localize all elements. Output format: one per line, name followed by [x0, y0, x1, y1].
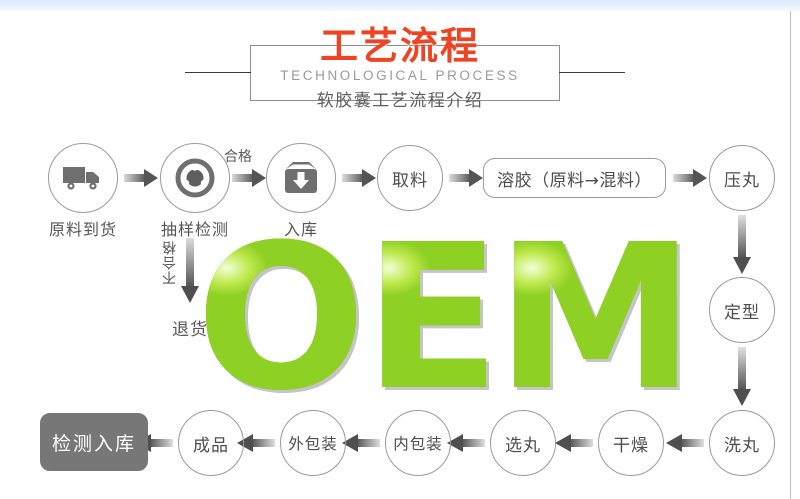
node-label-outer-packaging: 外包装 — [288, 432, 338, 454]
truck-icon — [62, 164, 104, 192]
node-label-pill-selection: 选丸 — [505, 431, 541, 456]
node-sampling-inspection[interactable] — [160, 143, 230, 213]
arrow-left-4 — [342, 433, 380, 453]
subtitle-english: TECHNOLOGICAL PROCESS — [0, 68, 800, 83]
node-label-pill-pressing: 压丸 — [724, 166, 760, 191]
node-pill-pressing[interactable]: 压丸 — [709, 145, 775, 211]
process-flow-infographic: 工艺流程 TECHNOLOGICAL PROCESS 软胶囊工艺流程介绍 O E… — [0, 0, 800, 499]
arrow-down-2 — [732, 347, 752, 407]
inspection-gear-icon — [174, 157, 216, 199]
arrow-left-1 — [666, 433, 704, 453]
node-inner-packaging[interactable]: 内包装 — [385, 410, 451, 476]
arrow-left-3 — [447, 433, 485, 453]
node-pill-washing[interactable]: 洗丸 — [709, 410, 775, 476]
edge-label-fail: 不合格 — [160, 240, 180, 285]
subtitle-chinese: 软胶囊工艺流程介绍 — [0, 91, 800, 111]
node-shaping[interactable]: 定型 — [709, 277, 775, 343]
caption-warehouse-in: 入库 — [241, 216, 361, 240]
arrow-right-5 — [673, 168, 707, 188]
node-outer-packaging[interactable]: 外包装 — [280, 410, 346, 476]
oem-watermark: O E M — [196, 228, 696, 410]
header: 工艺流程 TECHNOLOGICAL PROCESS 软胶囊工艺流程介绍 — [0, 12, 800, 112]
arrow-left-2 — [555, 433, 593, 453]
node-inspect-and-store[interactable]: 检测入库 — [40, 413, 148, 471]
node-label-inspect-and-store: 检测入库 — [52, 429, 136, 456]
node-label-material-picking: 取料 — [392, 166, 428, 191]
oem-letter-m: M — [496, 228, 695, 410]
top-band — [0, 0, 800, 11]
node-label-gel-melting: 溶胶（原料→混料） — [497, 166, 652, 191]
node-material-picking[interactable]: 取料 — [377, 145, 443, 211]
node-finished-product[interactable]: 成品 — [178, 410, 244, 476]
node-label-shaping: 定型 — [724, 298, 760, 323]
arrow-right-2 — [232, 168, 266, 188]
node-label-finished-product: 成品 — [193, 431, 229, 456]
edge-label-pass: 合格 — [224, 146, 252, 166]
caption-raw-material-arrival: 原料到货 — [18, 216, 148, 240]
node-drying[interactable]: 干燥 — [598, 410, 664, 476]
node-label-pill-washing: 洗丸 — [724, 431, 760, 456]
arrow-down-fail — [180, 238, 200, 304]
node-raw-material-arrival[interactable] — [48, 143, 118, 213]
node-gel-melting[interactable]: 溶胶（原料→混料） — [483, 158, 666, 198]
arrow-down-1 — [732, 215, 752, 275]
inbox-down-arrow-icon — [281, 159, 321, 197]
node-pill-selection[interactable]: 选丸 — [490, 410, 556, 476]
arrow-right-3 — [342, 168, 376, 188]
node-label-inner-packaging: 内包装 — [393, 432, 443, 454]
node-warehouse-in[interactable] — [266, 143, 336, 213]
arrow-right-1 — [124, 168, 158, 188]
arrow-right-4 — [449, 168, 483, 188]
caption-return-goods: 退货 — [140, 315, 240, 340]
page-title: 工艺流程 — [0, 26, 800, 66]
node-label-drying: 干燥 — [613, 431, 649, 456]
oem-letter-e: E — [364, 228, 501, 410]
